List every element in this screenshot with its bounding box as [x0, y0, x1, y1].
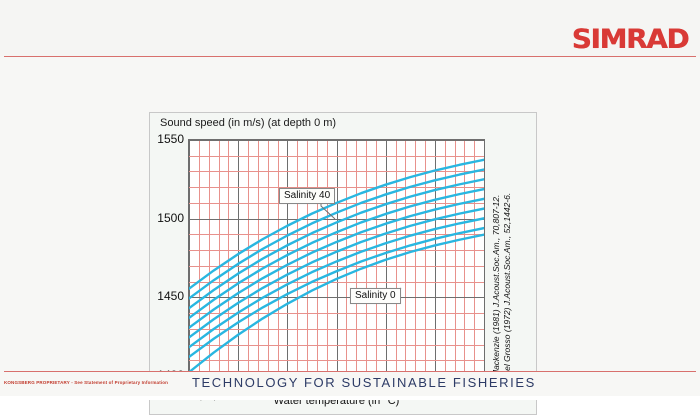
- callout-salinity-0: Salinity 0: [350, 288, 401, 304]
- plot-svg: [189, 140, 484, 376]
- y-tick-label: 1500: [157, 211, 184, 225]
- callout-salinity-40: Salinity 40: [279, 188, 335, 204]
- slide: SIMRAD Sound speed (in m/s) (at depth 0 …: [0, 0, 700, 400]
- citation-line-1: Mackenzie (1981) J.Acoust.Soc.Am., 70,80…: [491, 195, 502, 377]
- slide-content: Sound speed (in m/s) (at depth 0 m) 1400…: [4, 57, 696, 364]
- y-tick-label: 1450: [157, 289, 184, 303]
- sound-speed-chart-panel: Sound speed (in m/s) (at depth 0 m) 1400…: [149, 112, 537, 415]
- plot-area: [188, 139, 485, 377]
- footer-bottom-strip: [0, 396, 700, 400]
- y-tick-label: 1550: [157, 132, 184, 146]
- citation-line-2: Del Grosso (1972) J.Acoust.Soc.Am., 52,1…: [502, 193, 513, 377]
- slide-header: SIMRAD: [0, 0, 700, 57]
- proprietary-notice: KONGSBERG PROPRIETARY - See Statement of…: [4, 380, 168, 385]
- simrad-logo: SIMRAD: [571, 26, 688, 53]
- chart-title: Sound speed (in m/s) (at depth 0 m): [160, 117, 336, 129]
- footer-tagline: TECHNOLOGY FOR SUSTAINABLE FISHERIES: [192, 375, 536, 390]
- chart-citation: Mackenzie (1981) J.Acoust.Soc.Am., 70,80…: [491, 139, 513, 377]
